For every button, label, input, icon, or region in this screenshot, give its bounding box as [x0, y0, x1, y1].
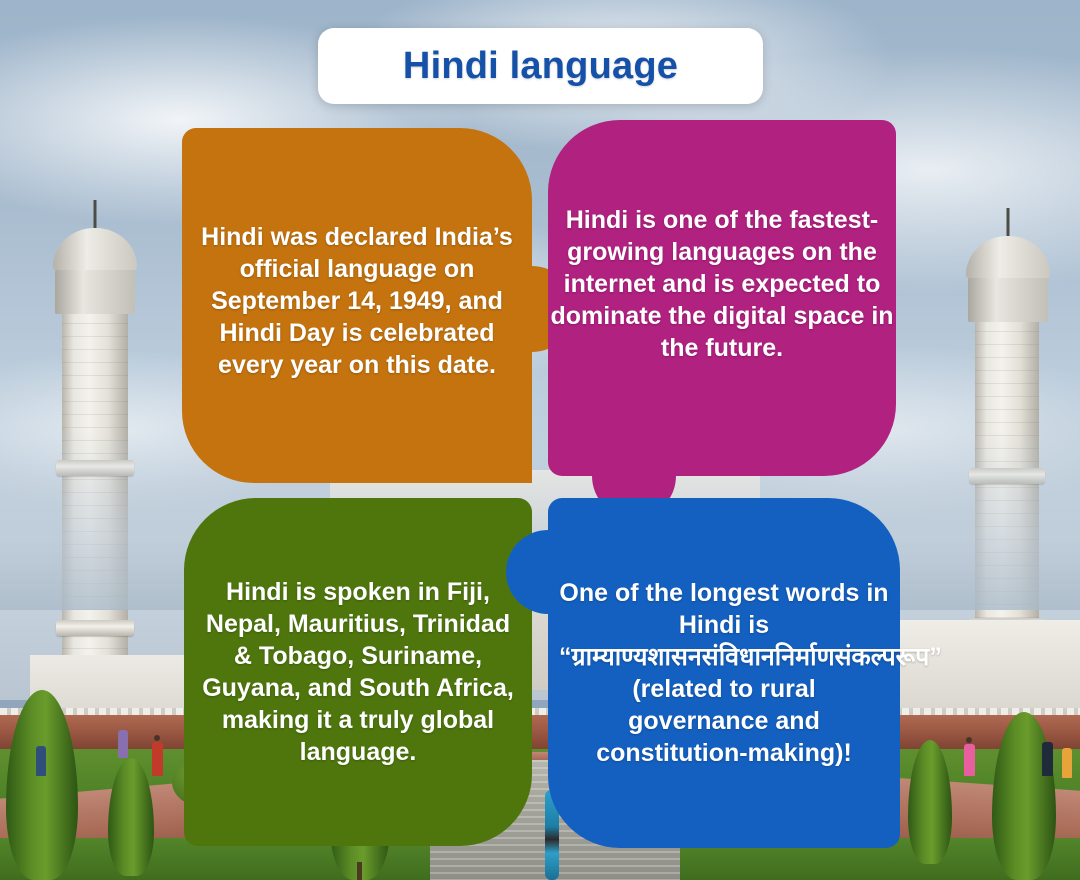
puzzle-piece-green[interactable]: Hindi is spoken in Fiji, Nepal, Mauritiu…: [184, 498, 532, 846]
visitor: [1062, 748, 1072, 778]
visitor: [152, 742, 163, 776]
visitor: [966, 737, 972, 743]
visitor: [964, 744, 975, 776]
piece-text-green: Hindi is spoken in Fiji, Nepal, Mauritiu…: [199, 576, 517, 768]
puzzle-piece-magenta[interactable]: Hindi is one of the fastest-growing lang…: [548, 120, 896, 476]
page-title: Hindi language: [403, 45, 678, 88]
title-card: Hindi language: [318, 28, 763, 104]
visitor: [36, 746, 46, 776]
tree-trunk: [357, 862, 362, 880]
piece-text-blue: One of the longest words in Hindi is “ग्…: [559, 577, 889, 769]
background-photo: [0, 0, 1080, 880]
piece-text-blue-devanagari: ग्राम्याण्यशासनसंविधाननिर्माणसंकल्परूप: [572, 642, 930, 671]
visitor: [1042, 742, 1053, 776]
minaret-right-top: [966, 236, 1050, 322]
infographic-canvas: Hindi language Hindi was declared India’…: [0, 0, 1080, 880]
minaret-left-top: [52, 228, 138, 314]
piece-text-orange: Hindi was declared India’s official lang…: [197, 221, 517, 391]
puzzle-piece-orange[interactable]: Hindi was declared India’s official lang…: [182, 128, 532, 483]
piece-text-magenta: Hindi is one of the fastest-growing lang…: [548, 204, 896, 392]
visitor: [118, 730, 128, 758]
visitor: [154, 735, 160, 741]
puzzle-piece-blue[interactable]: One of the longest words in Hindi is “ग्…: [548, 498, 900, 848]
